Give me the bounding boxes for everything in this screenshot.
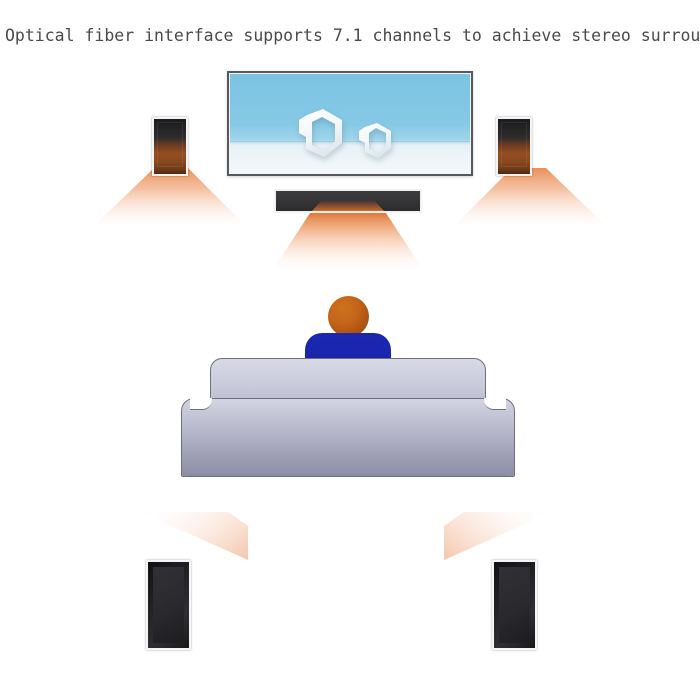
sofa-shadow xyxy=(189,474,507,478)
page-title: Optical fiber interface supports 7.1 cha… xyxy=(5,26,699,46)
soundbar-sound-cone xyxy=(274,210,422,268)
sofa xyxy=(181,358,515,478)
television xyxy=(227,71,473,176)
speaker-front-left xyxy=(152,117,188,176)
surround-sound-diagram: Optical fiber interface supports 7.1 cha… xyxy=(0,0,700,700)
hexagon-ring-large-icon xyxy=(293,107,349,161)
listener-head xyxy=(328,296,369,337)
speaker-rear-left xyxy=(146,560,191,650)
soundbar xyxy=(274,189,422,213)
tv-horizon-line xyxy=(230,141,470,142)
tv-screen xyxy=(230,74,470,173)
sofa-armrest-right-notch xyxy=(484,398,506,410)
speaker-rear-right xyxy=(492,560,537,650)
soundbar-emitter-glow xyxy=(312,200,384,211)
speaker-front-right xyxy=(496,117,532,176)
sofa-seat xyxy=(181,398,515,477)
front-right-sound-cone xyxy=(456,168,604,224)
hexagon-ring-small-icon xyxy=(354,121,396,161)
front-left-sound-cone xyxy=(96,168,244,224)
